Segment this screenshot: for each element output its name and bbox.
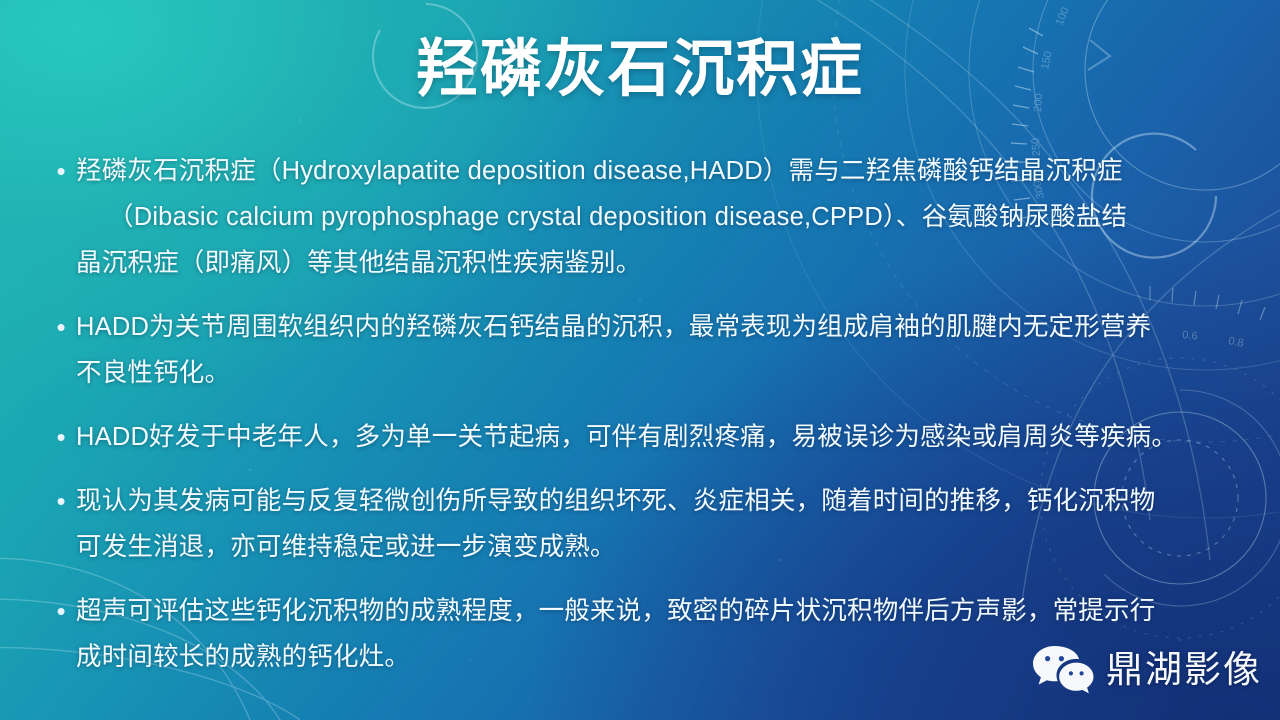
bullet-marker: • <box>46 588 76 634</box>
bullet-4-line-1: 现认为其发病可能与反复轻微创伤所导致的组织坏死、炎症相关，随着时间的推移，钙化沉… <box>76 478 1236 524</box>
bullet-3-line-1: HADD好发于中老年人，多为单一关节起病，可伴有剧烈疼痛，易被误诊为感染或肩周炎… <box>76 414 1236 460</box>
watermark: 鼎湖影像 <box>1032 644 1262 694</box>
bullet-2-text: HADD为关节周围软组织内的羟磷灰石钙结晶的沉积，最常表现为组成肩袖的肌腱内无定… <box>76 304 1236 396</box>
bullet-marker: • <box>46 478 76 524</box>
watermark-label: 鼎湖影像 <box>1106 651 1262 688</box>
bullet-1-line-1: 羟磷灰石沉积症（Hydroxylapatite deposition disea… <box>76 148 1236 194</box>
list-item: • HADD好发于中老年人，多为单一关节起病，可伴有剧烈疼痛，易被误诊为感染或肩… <box>46 414 1236 460</box>
bullet-1-line-2: （Dibasic calcium pyrophosphage crystal d… <box>76 194 1236 240</box>
list-item: • 羟磷灰石沉积症（Hydroxylapatite deposition dis… <box>46 148 1236 286</box>
wechat-icon <box>1032 644 1094 694</box>
bullet-marker: • <box>46 304 76 350</box>
bullet-marker: • <box>46 148 76 194</box>
bullet-1-text: 羟磷灰石沉积症（Hydroxylapatite deposition disea… <box>76 148 1236 286</box>
presentation-slide: 100 150 200 250 300 0.6 0.8 <box>0 0 1280 720</box>
list-item: • 现认为其发病可能与反复轻微创伤所导致的组织坏死、炎症相关，随着时间的推移，钙… <box>46 478 1236 570</box>
bullet-marker: • <box>46 414 76 460</box>
page-title: 羟磷灰石沉积症 <box>0 34 1280 105</box>
bullet-5-line-1: 超声可评估这些钙化沉积物的成熟程度，一般来说，致密的碎片状沉积物伴后方声影，常提… <box>76 588 1236 634</box>
bullet-list: • 羟磷灰石沉积症（Hydroxylapatite deposition dis… <box>46 148 1236 698</box>
svg-text:100: 100 <box>1054 6 1072 28</box>
bullet-3-text: HADD好发于中老年人，多为单一关节起病，可伴有剧烈疼痛，易被误诊为感染或肩周炎… <box>76 414 1236 460</box>
bullet-2-line-2: 不良性钙化。 <box>76 350 1236 396</box>
bullet-4-line-2: 可发生消退，亦可维持稳定或进一步演变成熟。 <box>76 524 1236 570</box>
bullet-1-line-3: 晶沉积症（即痛风）等其他结晶沉积性疾病鉴别。 <box>76 240 1236 286</box>
bullet-4-text: 现认为其发病可能与反复轻微创伤所导致的组织坏死、炎症相关，随着时间的推移，钙化沉… <box>76 478 1236 570</box>
bullet-2-line-1: HADD为关节周围软组织内的羟磷灰石钙结晶的沉积，最常表现为组成肩袖的肌腱内无定… <box>76 304 1236 350</box>
list-item: • HADD为关节周围软组织内的羟磷灰石钙结晶的沉积，最常表现为组成肩袖的肌腱内… <box>46 304 1236 396</box>
